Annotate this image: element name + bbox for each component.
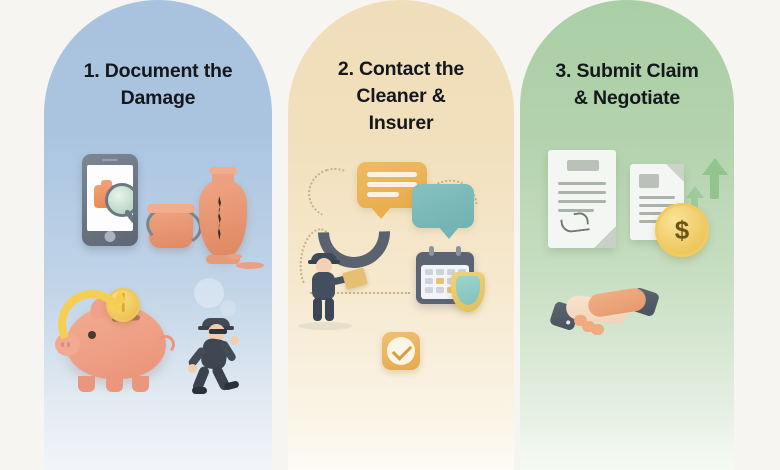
calendar-ring	[456, 246, 461, 256]
burglar-hand	[230, 336, 239, 345]
panel-2-title-line-3: Insurer	[302, 110, 500, 137]
dollar-coin-icon: $	[655, 203, 709, 257]
burglar-shoe	[192, 387, 207, 394]
smartphone-camera-icon	[82, 154, 138, 246]
step-panel-submit-claim-negotiate[interactable]: 3. Submit Claim & Negotiate	[520, 0, 734, 470]
speech-bubble-teal-icon	[412, 184, 474, 228]
calendar-cell	[436, 269, 444, 275]
panel-1-title: 1. Document the Damage	[44, 58, 272, 112]
calendar-cell	[425, 269, 433, 275]
bubble-text-line	[367, 172, 417, 177]
cracked-vase-icon	[199, 180, 247, 258]
piggy-leg	[106, 376, 123, 392]
shield-icon	[451, 272, 485, 312]
inspector-leg	[313, 298, 322, 321]
document-header-block	[567, 160, 599, 171]
bubble-tail	[438, 226, 460, 239]
hand-right	[587, 287, 648, 319]
calendar-cell	[425, 287, 433, 293]
document-line	[558, 200, 606, 203]
shield-inner	[456, 276, 480, 305]
finger	[591, 324, 604, 335]
bucket-icon	[149, 208, 193, 248]
vase-lip	[209, 167, 237, 174]
vase-shard	[226, 254, 242, 259]
decorative-bubble	[194, 278, 224, 308]
clipboard-icon	[342, 267, 368, 289]
document-header-block	[639, 174, 659, 188]
calendar-ring	[429, 246, 434, 256]
cuff-button	[566, 320, 571, 325]
document-line	[558, 209, 594, 212]
burglar-hand	[188, 364, 197, 373]
curved-arrow-icon	[58, 290, 126, 358]
step-panel-contact-cleaner-insurer[interactable]: 2. Contact the Cleaner & Insurer	[288, 0, 514, 470]
document-line	[639, 196, 675, 199]
bucket-rim	[147, 204, 195, 213]
inspector-body	[312, 272, 335, 300]
calendar-cell	[436, 287, 444, 293]
panel-1-title-line-1: 1. Document the	[58, 58, 258, 85]
signature-icon	[560, 216, 589, 233]
infographic-canvas: 1. Document the Damage	[0, 0, 780, 470]
panel-2-title: 2. Contact the Cleaner & Insurer	[288, 56, 514, 137]
panel-3-title: 3. Submit Claim & Negotiate	[520, 58, 734, 112]
signed-document-icon	[548, 150, 616, 248]
figure-shadow	[298, 322, 352, 330]
panel-3-title-line-1: 3. Submit Claim	[534, 58, 720, 85]
document-line	[558, 191, 606, 194]
piggy-tail	[156, 335, 175, 354]
document-fold-corner	[594, 226, 616, 248]
decorative-bubble	[220, 300, 236, 316]
bubble-text-line	[367, 192, 399, 197]
bubble-tail	[370, 206, 392, 219]
dollar-symbol: $	[675, 215, 689, 246]
calendar-cell	[425, 278, 433, 284]
inspector-clipboard-icon	[300, 252, 356, 324]
panel-2-title-line-1: 2. Contact the	[302, 56, 500, 83]
inspector-leg	[325, 298, 334, 321]
calendar-cell-highlight	[436, 278, 444, 284]
vase-shard	[236, 262, 264, 269]
piggy-leg	[78, 376, 95, 392]
bubble-text-line	[367, 182, 417, 187]
burglar-running-icon	[184, 318, 246, 392]
piggy-leg	[132, 376, 149, 392]
burglar-mask	[209, 329, 227, 334]
phone-screen	[87, 165, 133, 231]
arrow-stem	[710, 173, 719, 199]
panel-1-title-line-2: Damage	[58, 85, 258, 112]
step-panel-document-damage[interactable]: 1. Document the Damage	[44, 0, 272, 470]
document-fold-corner	[666, 164, 684, 182]
document-line	[558, 182, 606, 185]
phone-home-button	[105, 231, 116, 242]
handshake-icon	[552, 282, 656, 334]
panel-3-title-line-2: & Negotiate	[534, 85, 720, 112]
phone-speaker	[102, 159, 118, 161]
checkmark-badge-icon	[382, 332, 420, 370]
crack-icon	[218, 196, 221, 240]
panel-2-title-line-2: Cleaner &	[302, 83, 500, 110]
